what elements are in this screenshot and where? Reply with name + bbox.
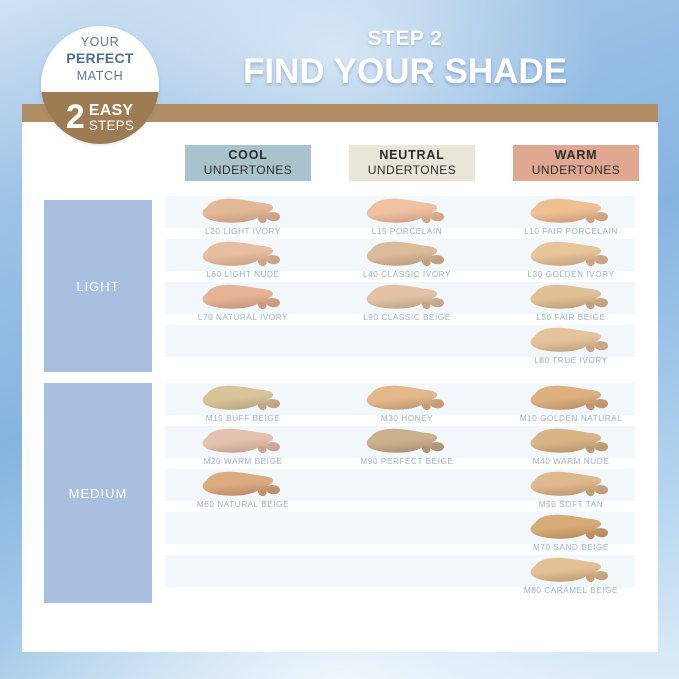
shade-swatch-l70 — [165, 282, 321, 314]
shade-cell-m30[interactable]: M30 HONEY — [329, 383, 485, 431]
shade-swatch-blob — [361, 197, 453, 227]
shade-cell-l40[interactable]: L40 CLASSIC IVORY — [329, 239, 485, 287]
column-header-warm-name: WARM — [555, 148, 598, 163]
shade-swatch-blob — [197, 470, 289, 500]
shade-label-l50: L50 FAIR BEIGE — [493, 313, 649, 322]
shade-swatch-l40 — [329, 239, 485, 271]
shade-cell-m70[interactable]: M70 SAND BEIGE — [493, 512, 649, 560]
shade-label-m20: M20 WARM BEIGE — [165, 457, 321, 466]
shade-swatch-m10 — [493, 383, 649, 415]
badge-step-number: 2 — [66, 102, 85, 133]
perfect-match-badge: YOUR PERFECT MATCH 2 EASY STEPS — [41, 26, 159, 144]
shade-swatch-m40 — [493, 426, 649, 458]
badge-top: YOUR PERFECT MATCH — [41, 26, 159, 92]
shade-swatch-blob — [525, 240, 617, 270]
shade-swatch-blob — [197, 384, 289, 414]
shade-label-l90: L90 CLASSIC BEIGE — [329, 313, 485, 322]
column-header-cool-sub: UNDERTONES — [204, 163, 293, 178]
badge-word-easy: EASY — [89, 103, 134, 119]
page-title: FIND YOUR SHADE — [170, 52, 640, 91]
shade-swatch-blob — [197, 283, 289, 313]
shade-swatch-blob — [361, 240, 453, 270]
shade-label-m60: M60 NATURAL BEIGE — [165, 500, 321, 509]
shade-swatch-m20 — [165, 426, 321, 458]
shade-swatch-blob — [525, 513, 617, 543]
shade-swatch-m80 — [493, 555, 649, 587]
shade-swatch-m90 — [329, 426, 485, 458]
column-header-cool-name: COOL — [228, 148, 267, 163]
shade-finder-graphic: STEP 2 FIND YOUR SHADE YOUR PERFECT MATC… — [0, 0, 679, 679]
shade-cell-m15[interactable]: M15 BUFF BEIGE — [165, 383, 321, 431]
shade-label-l80: L80 TRUE IVORY — [493, 356, 649, 365]
shade-swatch-blob — [197, 427, 289, 457]
shade-cell-l50[interactable]: L50 FAIR BEIGE — [493, 282, 649, 330]
shade-grid: L20 LIGHT IVORY L60 LIGHT NUDE L70 NATUR… — [165, 196, 635, 608]
shade-swatch-m50 — [493, 469, 649, 501]
shade-swatch-blob — [525, 384, 617, 414]
shade-swatch-blob — [525, 470, 617, 500]
column-header-neutral-sub: UNDERTONES — [368, 163, 457, 178]
shade-cell-l15[interactable]: L15 PORCELAIN — [329, 196, 485, 244]
shade-swatch-m60 — [165, 469, 321, 501]
shade-label-l15: L15 PORCELAIN — [329, 227, 485, 236]
step-label: STEP 2 — [170, 28, 640, 50]
shade-cell-l10[interactable]: L10 FAIR PORCELAIN — [493, 196, 649, 244]
shade-label-m50: M50 SOFT TAN — [493, 500, 649, 509]
shade-cell-m90[interactable]: M90 PERFECT BEIGE — [329, 426, 485, 474]
shade-swatch-blob — [525, 556, 617, 586]
shade-cell-l20[interactable]: L20 LIGHT IVORY — [165, 196, 321, 244]
shade-cell-l60[interactable]: L60 LIGHT NUDE — [165, 239, 321, 287]
shade-swatch-blob — [361, 427, 453, 457]
shade-label-m10: M10 GOLDEN NATURAL — [493, 414, 649, 423]
shade-swatch-l50 — [493, 282, 649, 314]
column-header-cool: COOL UNDERTONES — [185, 145, 311, 181]
shade-swatch-l30 — [493, 239, 649, 271]
shade-label-m30: M30 HONEY — [329, 414, 485, 423]
shade-cell-l90[interactable]: L90 CLASSIC BEIGE — [329, 282, 485, 330]
shade-swatch-blob — [197, 197, 289, 227]
shade-label-l60: L60 LIGHT NUDE — [165, 270, 321, 279]
shade-cell-l30[interactable]: L30 GOLDEN IVORY — [493, 239, 649, 287]
shade-label-m70: M70 SAND BEIGE — [493, 543, 649, 552]
shade-swatch-m70 — [493, 512, 649, 544]
shade-cell-m40[interactable]: M40 WARM NUDE — [493, 426, 649, 474]
shade-swatch-blob — [361, 384, 453, 414]
shade-label-l20: L20 LIGHT IVORY — [165, 227, 321, 236]
shade-swatch-blob — [525, 283, 617, 313]
shade-cell-m20[interactable]: M20 WARM BEIGE — [165, 426, 321, 474]
column-header-warm: WARM UNDERTONES — [513, 145, 639, 181]
badge-line-1: YOUR — [81, 34, 120, 50]
shade-swatch-blob — [361, 283, 453, 313]
shade-cell-m60[interactable]: M60 NATURAL BEIGE — [165, 469, 321, 517]
column-header-warm-sub: UNDERTONES — [532, 163, 621, 178]
badge-line-2: PERFECT — [66, 50, 133, 68]
shade-swatch-l90 — [329, 282, 485, 314]
shade-label-m15: M15 BUFF BEIGE — [165, 414, 321, 423]
badge-words: EASY STEPS — [89, 103, 134, 133]
level-block-light: LIGHT — [44, 200, 152, 372]
shade-swatch-l80 — [493, 325, 649, 357]
shade-label-l40: L40 CLASSIC IVORY — [329, 270, 485, 279]
shade-cell-m50[interactable]: M50 SOFT TAN — [493, 469, 649, 517]
shade-swatch-l60 — [165, 239, 321, 271]
badge-line-3: MATCH — [77, 68, 124, 84]
shade-label-m90: M90 PERFECT BEIGE — [329, 457, 485, 466]
shade-label-l10: L10 FAIR PORCELAIN — [493, 227, 649, 236]
column-header-neutral-name: NEUTRAL — [379, 148, 444, 163]
shade-label-m40: M40 WARM NUDE — [493, 457, 649, 466]
shade-label-m80: M80 CARAMEL BEIGE — [493, 586, 649, 595]
title-block: STEP 2 FIND YOUR SHADE — [170, 28, 640, 91]
shade-swatch-blob — [525, 427, 617, 457]
shade-swatch-blob — [525, 197, 617, 227]
shade-swatch-m15 — [165, 383, 321, 415]
shade-swatch-m30 — [329, 383, 485, 415]
shade-swatch-l15 — [329, 196, 485, 228]
shade-swatch-l10 — [493, 196, 649, 228]
shade-swatch-l20 — [165, 196, 321, 228]
shade-swatch-blob — [197, 240, 289, 270]
level-block-medium: MEDIUM — [44, 383, 152, 603]
column-header-neutral: NEUTRAL UNDERTONES — [349, 145, 475, 181]
shade-cell-m10[interactable]: M10 GOLDEN NATURAL — [493, 383, 649, 431]
shade-label-l30: L30 GOLDEN IVORY — [493, 270, 649, 279]
badge-bottom: 2 EASY STEPS — [41, 92, 159, 144]
shade-cell-l70[interactable]: L70 NATURAL IVORY — [165, 282, 321, 330]
shade-label-l70: L70 NATURAL IVORY — [165, 313, 321, 322]
shade-swatch-blob — [525, 326, 617, 356]
shade-cell-l80[interactable]: L80 TRUE IVORY — [493, 325, 649, 373]
section-gap — [165, 368, 635, 383]
badge-word-steps: STEPS — [89, 119, 134, 133]
shade-cell-m80[interactable]: M80 CARAMEL BEIGE — [493, 555, 649, 603]
